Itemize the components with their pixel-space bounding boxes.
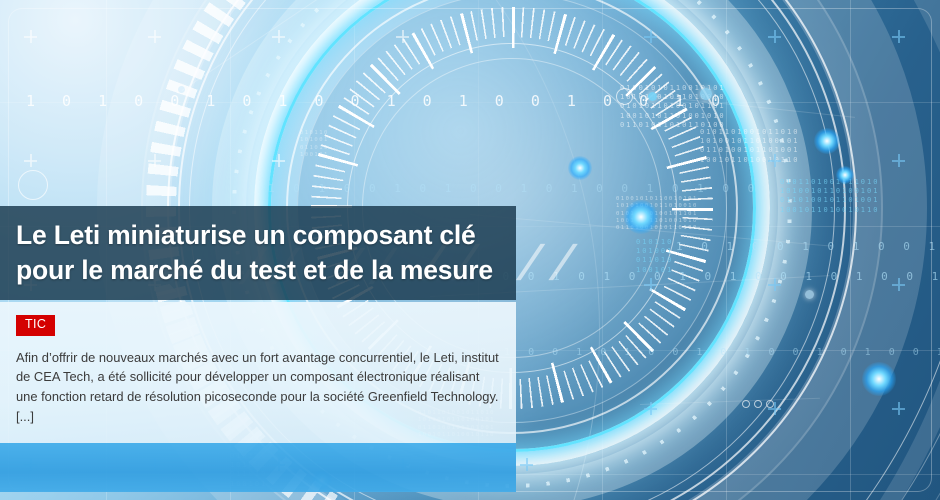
crosshair-marker bbox=[148, 154, 161, 167]
crosshair-marker bbox=[768, 154, 781, 167]
crosshair-marker bbox=[148, 30, 161, 43]
crosshair-marker bbox=[520, 458, 533, 471]
node-dot bbox=[805, 290, 814, 299]
article-teaser-card: 1 0 1 0 0 1 0 1 0 0 1 0 1 0 0 1 0 0 1 0 … bbox=[0, 0, 940, 500]
crosshair-marker bbox=[24, 154, 37, 167]
glow-dot bbox=[862, 362, 896, 396]
crosshair-marker bbox=[768, 278, 781, 291]
article-excerpt: Afin d’offrir de nouveaux marchés avec u… bbox=[16, 348, 502, 426]
bottom-accent-strip bbox=[0, 443, 516, 492]
node-ring bbox=[18, 170, 48, 200]
node-ring bbox=[754, 400, 762, 408]
category-badge[interactable]: TIC bbox=[16, 315, 55, 336]
crosshair-marker bbox=[892, 154, 905, 167]
crosshair-marker bbox=[768, 30, 781, 43]
glow-dot bbox=[568, 156, 592, 180]
node-dot bbox=[700, 88, 712, 100]
crosshair-marker bbox=[892, 30, 905, 43]
crosshair-marker bbox=[644, 30, 657, 43]
crosshair-marker bbox=[396, 30, 409, 43]
glow-dot bbox=[814, 128, 840, 154]
crosshair-marker bbox=[892, 402, 905, 415]
headline-line-1: Le Leti miniaturise un composant clé bbox=[16, 218, 516, 253]
glow-dot bbox=[836, 166, 854, 184]
headline-line-2: pour le marché du test et de la mesure bbox=[16, 253, 516, 288]
crosshair-marker bbox=[892, 278, 905, 291]
node-ring bbox=[766, 400, 774, 408]
crosshair-marker bbox=[24, 30, 37, 43]
node-ring bbox=[616, 88, 633, 105]
teaser-panel: TIC Afin d’offrir de nouveaux marchés av… bbox=[0, 302, 516, 443]
headline-overlay[interactable]: Le Leti miniaturise un composant clé pou… bbox=[0, 206, 516, 300]
crosshair-marker bbox=[272, 30, 285, 43]
crosshair-marker bbox=[272, 154, 285, 167]
